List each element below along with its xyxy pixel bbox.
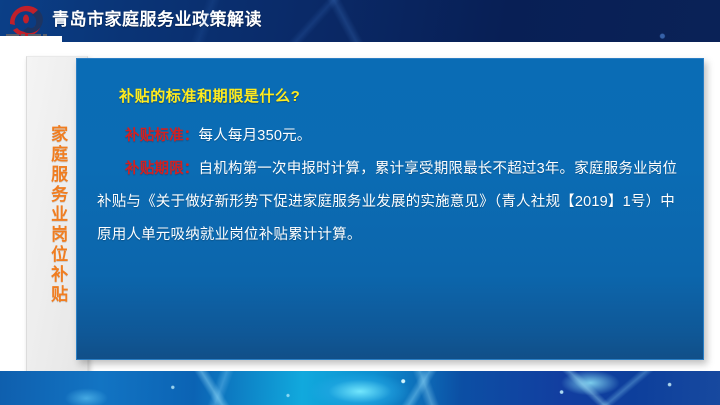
paragraph-subsidy-standard: 补贴标准：每人每月350元。 (97, 120, 687, 153)
paragraph-label-subsidy-standard: 补贴标准： (125, 128, 199, 144)
footer-tech-strip (0, 371, 720, 405)
header-bar: 青岛市家庭服务业政策解读 (0, 0, 720, 42)
paragraph-text-subsidy-standard: 每人每月350元。 (199, 128, 312, 144)
panel-heading: 补贴的标准和期限是什么? (119, 85, 687, 106)
qingdao-swirl-logo (4, 2, 50, 40)
content-panel: 补贴的标准和期限是什么? 补贴标准：每人每月350元。 补贴期限：自机构第一次申… (76, 58, 704, 360)
slide-canvas: 青岛市家庭服务业政策解读 家庭服务业岗位补贴 补贴的标准和期限是什么? 补贴标准… (0, 0, 720, 405)
paragraph-subsidy-period: 补贴期限：自机构第一次申报时计算，累计享受期限最长不超过3年。家庭服务业岗位补贴… (97, 153, 687, 252)
header-notch (0, 36, 62, 44)
page-title: 青岛市家庭服务业政策解读 (52, 8, 262, 32)
sidebar-vertical-tab-label: 家庭服务业岗位补贴 (48, 125, 66, 305)
paragraph-label-subsidy-period: 补贴期限： (125, 161, 199, 177)
panel-body: 补贴标准：每人每月350元。 补贴期限：自机构第一次申报时计算，累计享受期限最长… (97, 120, 687, 252)
